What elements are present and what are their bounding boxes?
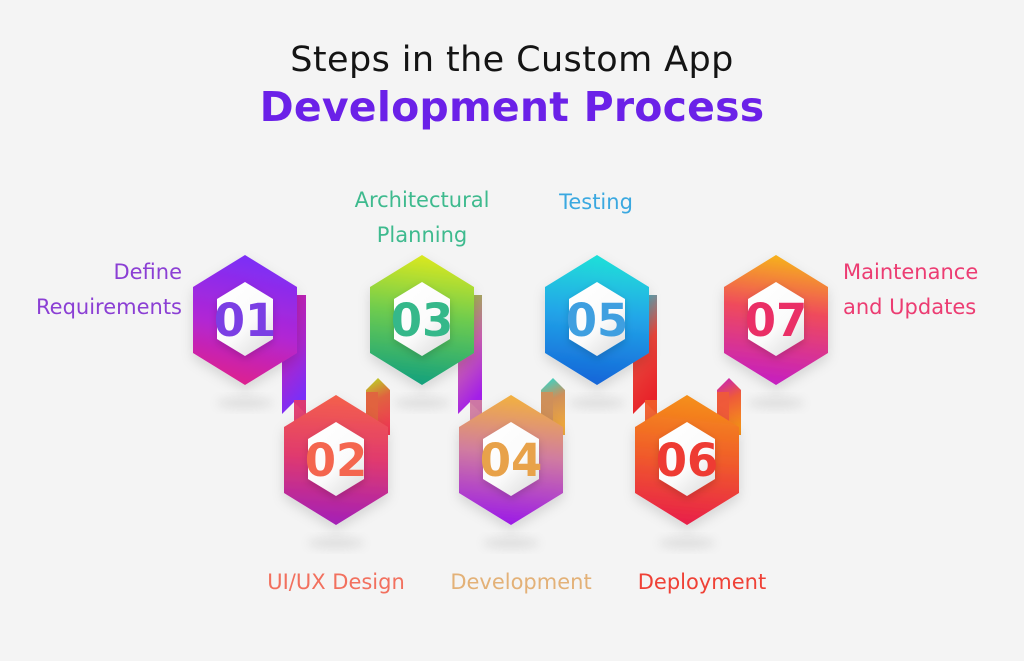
step-number-04: 04: [480, 434, 543, 487]
step-label-03: Architectural Planning: [332, 183, 512, 252]
step-label-02: UI/UX Design: [246, 565, 426, 600]
process-diagram: 01 03 05 07 02 04: [0, 0, 1024, 661]
step-hexagon-01[interactable]: 01: [193, 255, 297, 385]
step-number-03: 03: [391, 294, 454, 347]
step-number-01: 01: [214, 294, 277, 347]
step-label-05: Testing: [516, 185, 676, 220]
step-number-05: 05: [566, 294, 629, 347]
step-label-01: Define Requirements: [0, 255, 182, 324]
step-label-07: Maintenance and Updates: [843, 255, 1024, 324]
step-label-06: Deployment: [612, 565, 792, 600]
step-number-07: 07: [745, 294, 808, 347]
step-label-04: Development: [432, 565, 610, 600]
step-number-02: 02: [305, 434, 368, 487]
step-hexagon-07[interactable]: 07: [724, 255, 828, 385]
step-number-06: 06: [656, 434, 719, 487]
